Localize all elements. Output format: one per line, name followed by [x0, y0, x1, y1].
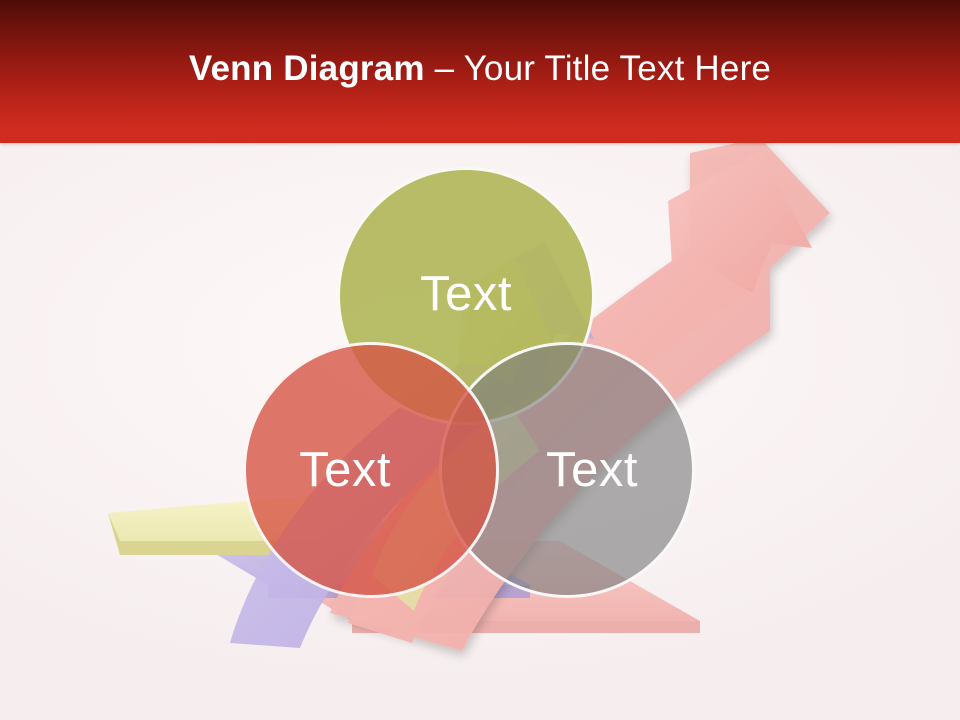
page-title-rest: – Your Title Text Here [425, 49, 771, 88]
page-title-strong: Venn Diagram [189, 49, 425, 88]
slide-canvas: Venn Diagram – Your Title Text Here Text… [0, 0, 960, 720]
venn-label-left: Text [299, 446, 391, 495]
header-banner: Venn Diagram – Your Title Text Here [0, 0, 960, 143]
venn-label-right: Text [546, 446, 638, 495]
page-title: Venn Diagram – Your Title Text Here [0, 48, 960, 90]
venn-circle-left[interactable]: Text [243, 342, 499, 598]
venn-label-top: Text [420, 270, 512, 319]
